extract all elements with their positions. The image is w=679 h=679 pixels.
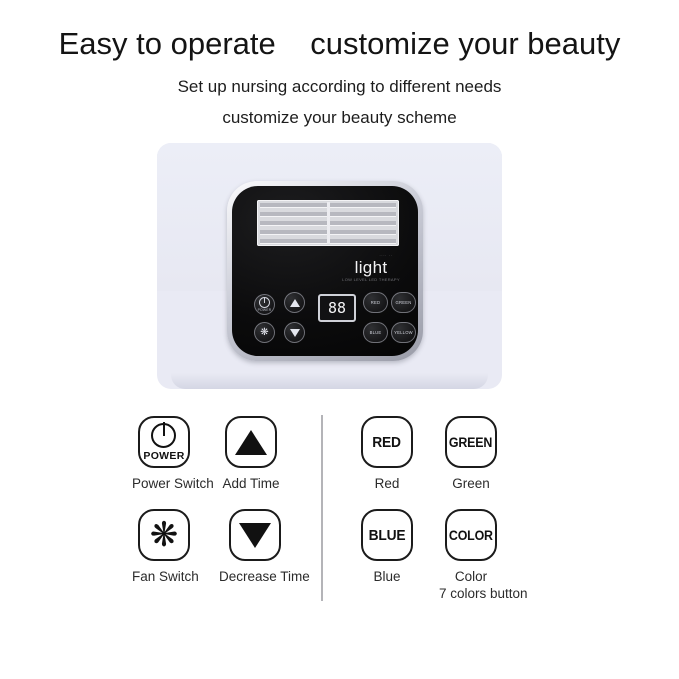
legend-key-power-label: POWER xyxy=(143,451,184,462)
legend-key-green-label: GREEN xyxy=(449,435,492,450)
legend-key-decrease-time[interactable] xyxy=(229,509,281,561)
device-yellow-label: YELLOW xyxy=(394,330,413,335)
legend-item-power-switch[interactable]: POWER Power Switch xyxy=(132,416,196,493)
legend-caption-red: Red xyxy=(355,476,419,493)
legend-key-green[interactable]: GREEN xyxy=(445,416,497,468)
legend-item-blue[interactable]: BLUE Blue xyxy=(355,509,419,586)
device-power-button[interactable]: POWER xyxy=(254,294,275,315)
legend-key-blue[interactable]: BLUE xyxy=(361,509,413,561)
device-green-label: GREEN xyxy=(396,300,412,305)
legend-divider xyxy=(321,415,323,601)
legend-caption-color-line-2: 7 colors button xyxy=(439,586,503,603)
device-decrease-time-button[interactable] xyxy=(284,322,305,343)
device-add-time-button[interactable] xyxy=(284,292,305,313)
legend-key-red-label: RED xyxy=(373,434,402,451)
legend-caption-add-time: Add Time xyxy=(219,476,283,493)
device-fan-button[interactable]: ❋ xyxy=(254,322,275,343)
legend-key-blue-label: BLUE xyxy=(369,527,406,544)
legend-key-power[interactable]: POWER xyxy=(138,416,190,468)
legend-item-fan-switch[interactable]: ❋ Fan Switch xyxy=(132,509,196,586)
legend-caption-power-switch: Power Switch xyxy=(132,476,196,493)
device-green-button[interactable]: GREEN xyxy=(391,292,416,313)
legend-item-green[interactable]: GREEN Green xyxy=(439,416,503,493)
legend-caption-decrease-time: Decrease Time xyxy=(219,569,291,586)
legend-item-decrease-time[interactable]: Decrease Time xyxy=(219,509,291,586)
legend-caption-fan-switch: Fan Switch xyxy=(132,569,196,586)
legend-key-color[interactable]: COLOR xyxy=(445,509,497,561)
triangle-up-icon xyxy=(290,299,300,307)
legend-caption-color: Color 7 colors button xyxy=(439,569,503,603)
control-panel: ···· ·· light LOW LEVEL LED THERAPY POWE… xyxy=(232,186,418,356)
product-photo: ···· ·· light LOW LEVEL LED THERAPY POWE… xyxy=(157,143,502,389)
timer-display: 88 xyxy=(318,294,356,322)
brand-name: light xyxy=(328,259,414,276)
device-body-shadow xyxy=(171,373,488,389)
fan-icon: ❋ xyxy=(260,328,269,338)
vent-grille-icon xyxy=(257,200,399,246)
legend-key-fan[interactable]: ❋ xyxy=(138,509,190,561)
triangle-up-icon xyxy=(235,430,267,455)
brand-tagline: LOW LEVEL LED THERAPY xyxy=(328,278,414,282)
device-blue-button[interactable]: BLUE xyxy=(363,322,388,343)
control-panel-bezel: ···· ·· light LOW LEVEL LED THERAPY POWE… xyxy=(227,181,423,361)
device-red-label: RED xyxy=(371,300,380,305)
vent-grille-divider xyxy=(327,202,330,244)
page-subheadline-line-2: customize your beauty scheme xyxy=(0,108,679,128)
legend-item-color[interactable]: COLOR Color 7 colors button xyxy=(439,509,503,603)
power-ring-icon xyxy=(151,423,176,448)
legend-key-color-label: COLOR xyxy=(449,528,493,543)
power-icon: POWER xyxy=(143,423,184,462)
legend-key-add-time[interactable] xyxy=(225,416,277,468)
legend-caption-blue: Blue xyxy=(355,569,419,586)
triangle-down-icon xyxy=(290,329,300,337)
device-yellow-button[interactable]: YELLOW xyxy=(391,322,416,343)
device-power-label: POWER xyxy=(258,309,272,312)
fan-icon: ❋ xyxy=(150,518,179,552)
page-subheadline-line-1: Set up nursing according to different ne… xyxy=(0,77,679,97)
fan-glyph: ❋ xyxy=(260,328,269,338)
device-blue-label: BLUE xyxy=(370,330,382,335)
legend-caption-color-line-1: Color xyxy=(455,569,487,584)
power-icon: POWER xyxy=(258,297,272,313)
legend-key-red[interactable]: RED xyxy=(361,416,413,468)
power-ring-icon xyxy=(259,297,270,308)
page-headline: Easy to operate customize your beauty xyxy=(0,26,679,62)
legend-item-red[interactable]: RED Red xyxy=(355,416,419,493)
legend-item-add-time[interactable]: Add Time xyxy=(219,416,283,493)
timer-display-value: 88 xyxy=(328,301,346,316)
legend-caption-green: Green xyxy=(439,476,503,493)
device-red-button[interactable]: RED xyxy=(363,292,388,313)
triangle-down-icon xyxy=(239,523,271,548)
device-branding: ···· ·· light LOW LEVEL LED THERAPY xyxy=(328,254,414,282)
